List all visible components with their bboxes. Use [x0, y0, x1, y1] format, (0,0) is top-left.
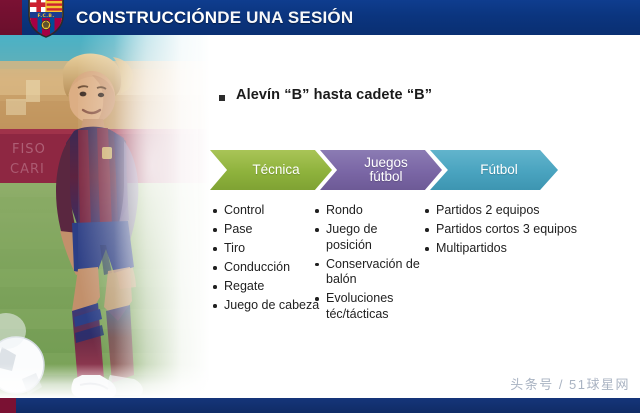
watermark-text: 头条号 / 51球星网 [510, 374, 630, 393]
bullet-columns: Control Pase Tiro Conducción Regate Jueg… [200, 203, 640, 373]
column-juegos-futbol: Rondo Juego de posición Conservación de … [314, 203, 424, 326]
list-item: Pase [212, 222, 320, 238]
page-title: CONSTRUCCIÓN DE UNA SESIÓN [76, 0, 353, 35]
list-item: Partidos cortos 3 equipos [424, 222, 584, 238]
chevron-futbol-label: Fútbol [480, 163, 518, 177]
chevron-process-band: Técnica Juegos fútbol Fútbol [210, 150, 640, 196]
list-item: Rondo [314, 203, 424, 219]
chevron-juegos-futbol-label-2: fútbol [364, 170, 408, 184]
list-item: Juego de posición [314, 222, 424, 253]
chevron-juegos-futbol[interactable]: Juegos fútbol [320, 150, 442, 190]
list-item: Control [212, 203, 320, 219]
column-futbol: Partidos 2 equipos Partidos cortos 3 equ… [424, 203, 584, 260]
column-tecnica: Control Pase Tiro Conducción Regate Jueg… [212, 203, 320, 317]
footer-accent-block [0, 398, 16, 413]
fc-barcelona-crest-icon: F.C.B. [26, 0, 66, 38]
list-item: Regate [212, 279, 320, 295]
footer-bar [0, 398, 640, 413]
list-item: Tiro [212, 241, 320, 257]
chevron-futbol[interactable]: Fútbol [430, 150, 558, 190]
column-juegos-futbol-list: Rondo Juego de posición Conservación de … [314, 203, 424, 322]
slide-header: F.C.B. CONSTRUCCIÓN DE UNA SESIÓN [0, 0, 640, 35]
page-title-rest: DE UNA SESIÓN [217, 8, 353, 28]
chevron-tecnica[interactable]: Técnica [210, 150, 332, 190]
list-item: Evoluciones téc/tácticas [314, 291, 424, 322]
player-photo-image: FISO CARI [0, 35, 210, 398]
slide-content: Alevín “B” hasta cadete “B” Técnica Jueg… [200, 35, 640, 398]
page-title-strong: CONSTRUCCIÓN [76, 8, 217, 28]
svg-text:FISO: FISO [12, 142, 46, 157]
lead-bullet-row: Alevín “B” hasta cadete “B” [219, 87, 432, 103]
header-accent-stripe [0, 0, 22, 35]
list-item: Juego de cabeza [212, 298, 320, 314]
list-item: Partidos 2 equipos [424, 203, 584, 219]
square-bullet-icon [219, 95, 225, 101]
svg-text:CARI: CARI [10, 162, 45, 177]
player-photo: FISO CARI [0, 35, 210, 398]
lead-bullet-text: Alevín “B” hasta cadete “B” [236, 87, 432, 103]
list-item: Multipartidos [424, 241, 584, 257]
column-futbol-list: Partidos 2 equipos Partidos cortos 3 equ… [424, 203, 584, 257]
list-item: Conservación de balón [314, 257, 424, 288]
chevron-juegos-futbol-label-1: Juegos [364, 156, 408, 170]
chevron-tecnica-label: Técnica [252, 163, 299, 177]
list-item: Conducción [212, 260, 320, 276]
column-tecnica-list: Control Pase Tiro Conducción Regate Jueg… [212, 203, 320, 314]
presentation-slide: FISO CARI [0, 0, 640, 413]
